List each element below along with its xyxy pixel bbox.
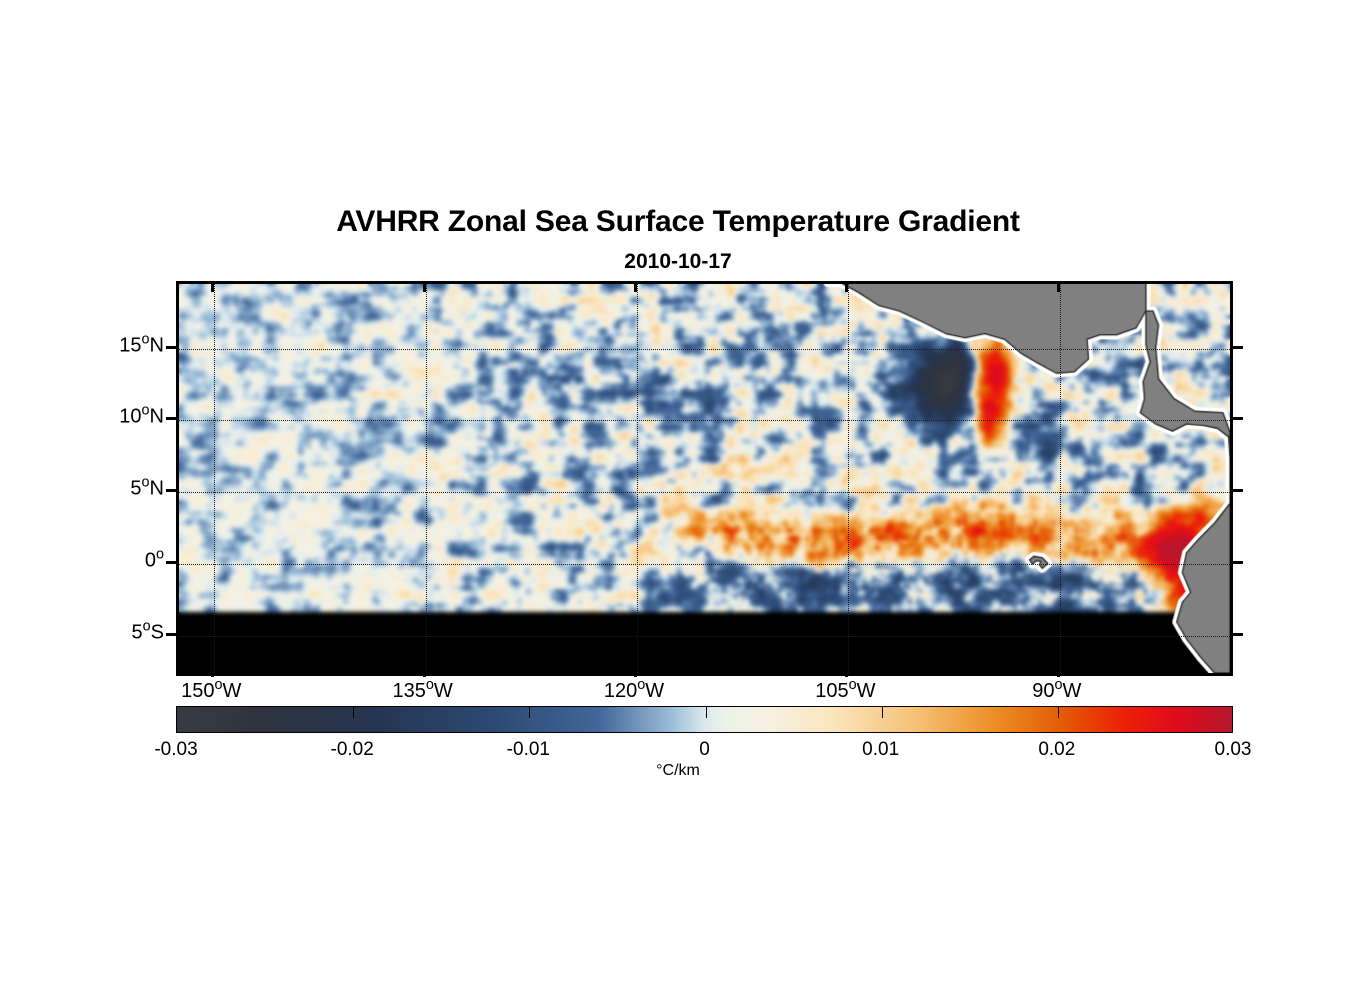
- y-axis-tick: [166, 561, 177, 564]
- x-axis-tick-top: [1057, 281, 1060, 292]
- y-axis-label: 15oN: [119, 334, 164, 357]
- x-axis-tick: [634, 666, 637, 677]
- colorbar-tick-label: 0.02: [1038, 739, 1075, 761]
- x-axis-tick-top: [634, 281, 637, 292]
- y-axis-label: 0o: [145, 550, 164, 573]
- colorbar-gradient: [177, 707, 1232, 732]
- x-axis-label: 90oW: [1032, 680, 1081, 703]
- colorbar-tick-label: -0.03: [154, 739, 197, 761]
- y-axis-label: 5oN: [130, 478, 164, 501]
- map-axes: [176, 281, 1233, 676]
- colorbar-tick-label: 0: [699, 739, 710, 761]
- colorbar-tick: [1058, 707, 1059, 718]
- colorbar-tick: [353, 707, 354, 718]
- x-axis-label: 105oW: [815, 680, 875, 703]
- x-axis-label: 150oW: [181, 680, 241, 703]
- colorbar-tick: [706, 707, 707, 718]
- y-axis-tick-right: [1232, 417, 1243, 420]
- x-axis-tick: [211, 666, 214, 677]
- y-axis-label: 10oN: [119, 406, 164, 429]
- x-axis-tick-top: [211, 281, 214, 292]
- colorbar-tick-label: -0.01: [507, 739, 550, 761]
- x-axis-tick-top: [423, 281, 426, 292]
- y-axis-tick: [166, 417, 177, 420]
- colorbar-tick-label: -0.02: [331, 739, 374, 761]
- y-axis-tick-right: [1232, 561, 1243, 564]
- colorbar-unit-label: °C/km: [0, 762, 1356, 780]
- colorbar: [176, 706, 1233, 733]
- sst-gradient-heatmap: [179, 284, 1230, 673]
- x-axis-tick: [845, 666, 848, 677]
- y-axis-tick-right: [1232, 633, 1243, 636]
- x-axis-tick: [1057, 666, 1060, 677]
- x-axis-tick: [423, 666, 426, 677]
- x-axis-tick-top: [845, 281, 848, 292]
- y-axis-label: 5oS: [132, 621, 164, 644]
- y-axis-tick: [166, 489, 177, 492]
- y-axis-tick-right: [1232, 489, 1243, 492]
- figure-canvas: AVHRR Zonal Sea Surface Temperature Grad…: [0, 0, 1356, 1000]
- y-axis-tick-right: [1232, 346, 1243, 349]
- y-axis-tick: [166, 346, 177, 349]
- colorbar-tick-label: 0.03: [1215, 739, 1252, 761]
- colorbar-tick-label: 0.01: [862, 739, 899, 761]
- y-axis-tick: [166, 633, 177, 636]
- colorbar-tick: [529, 707, 530, 718]
- chart-subtitle: 2010-10-17: [0, 250, 1356, 274]
- x-axis-label: 135oW: [392, 680, 452, 703]
- colorbar-tick: [882, 707, 883, 718]
- x-axis-label: 120oW: [604, 680, 664, 703]
- page-title: AVHRR Zonal Sea Surface Temperature Grad…: [0, 205, 1356, 239]
